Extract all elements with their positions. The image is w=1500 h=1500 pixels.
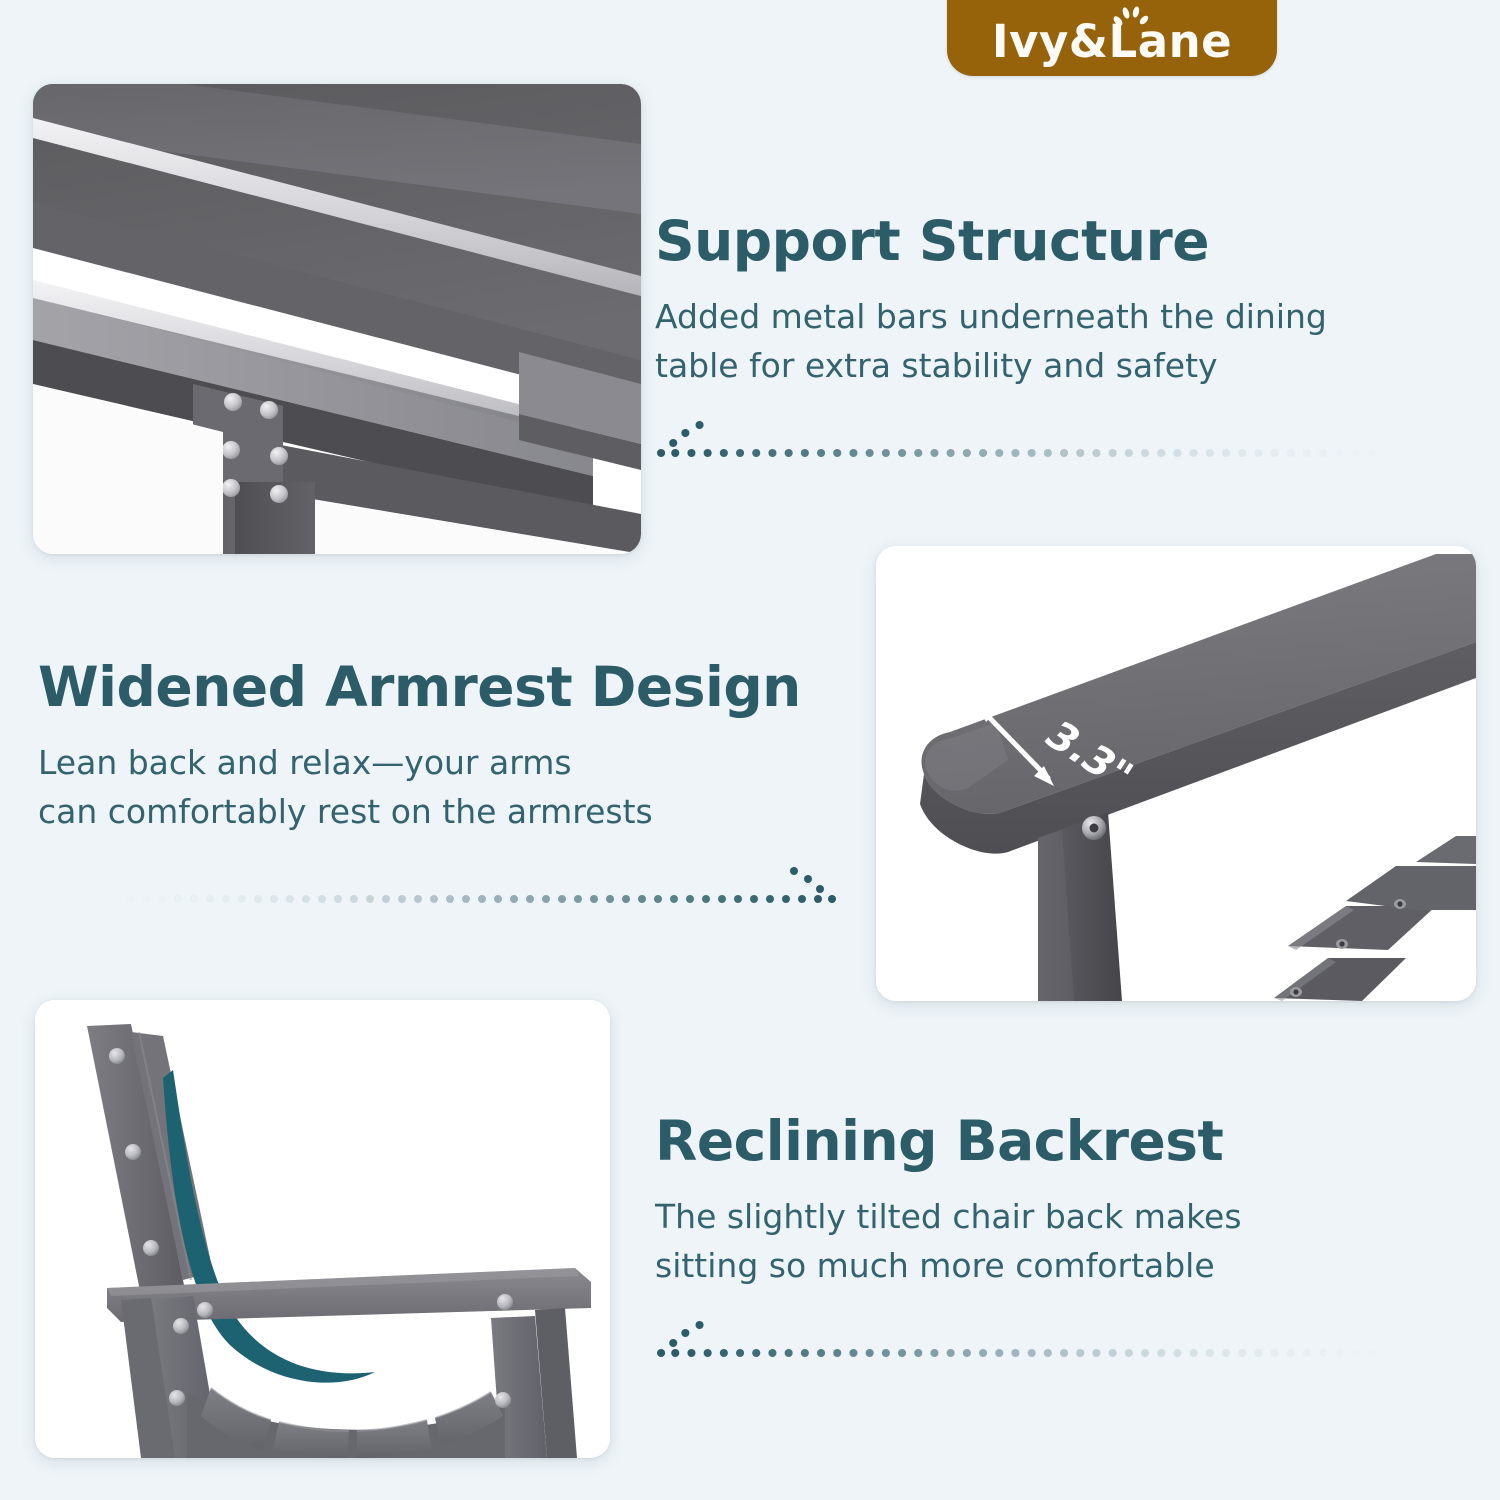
dotted-divider-left — [655, 1317, 1465, 1361]
brand-name-text: Ivy&Lane — [992, 15, 1232, 68]
feature-desc-line: sitting so much more comfortable — [655, 1242, 1465, 1291]
feature-desc-line: can comfortably rest on the armrests — [38, 788, 838, 837]
armrest-photo: 3.3" — [876, 546, 1476, 1001]
infographic-page: Ivy&Lane — [0, 0, 1500, 1500]
dotted-divider-right — [38, 863, 838, 907]
feature-title: Support Structure — [655, 212, 1465, 271]
feature-description: Added metal bars underneath the dining t… — [655, 293, 1465, 391]
feature-description: The slightly tilted chair back makes sit… — [655, 1193, 1465, 1291]
feature-support-structure: Support Structure Added metal bars under… — [655, 212, 1465, 461]
feature-widened-armrest-design: Widened Armrest Design Lean back and rel… — [38, 658, 838, 907]
feature-desc-line: The slightly tilted chair back makes — [655, 1193, 1465, 1242]
feature-desc-line: Lean back and relax—your arms — [38, 739, 838, 788]
feature-title: Reclining Backrest — [655, 1112, 1465, 1171]
feature-reclining-backrest: Reclining Backrest The slightly tilted c… — [655, 1112, 1465, 1361]
brand-wordmark: Ivy&Lane — [992, 19, 1232, 64]
dotted-divider-left — [655, 417, 1465, 461]
chair-side-profile-photo — [35, 1000, 610, 1458]
table-underside-photo — [33, 84, 641, 554]
feature-desc-line: Added metal bars underneath the dining — [655, 293, 1465, 342]
feature-description: Lean back and relax—your arms can comfor… — [38, 739, 838, 837]
feature-title: Widened Armrest Design — [38, 658, 838, 717]
brand-logo-tab: Ivy&Lane — [947, 0, 1277, 76]
feature-desc-line: table for extra stability and safety — [655, 342, 1465, 391]
